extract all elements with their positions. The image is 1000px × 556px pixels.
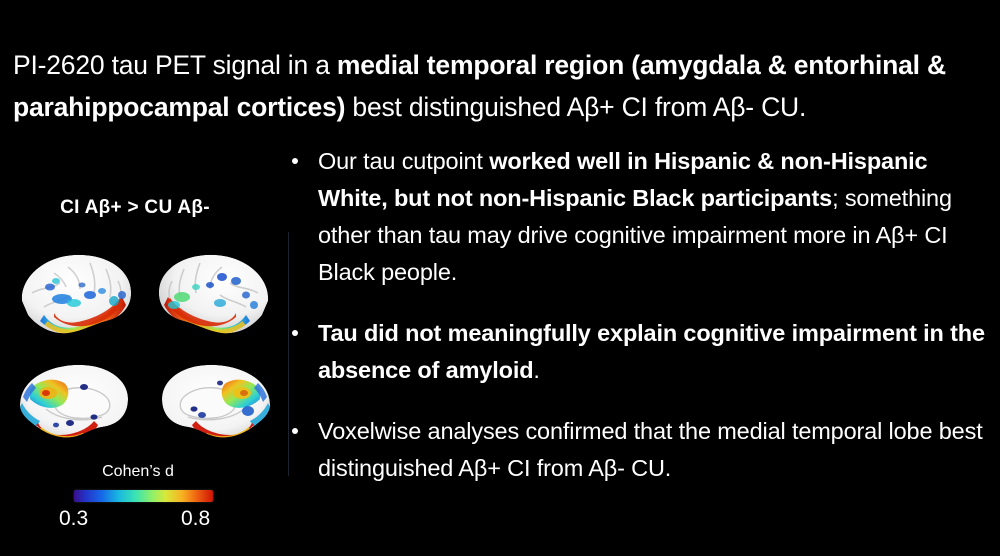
colorbar-max-label: 0.8: [181, 507, 210, 531]
bullet-list: Our tau cutpoint worked well in Hispanic…: [288, 143, 988, 487]
bullet-dot-icon: [292, 158, 298, 164]
figure-panel: CI Aβ+ > CU Aβ-: [0, 185, 280, 545]
bullet-1-plain-1: Our tau cutpoint: [318, 148, 489, 174]
colorbar-gradient: [74, 490, 213, 502]
brain-right-hemisphere-medial: [150, 353, 280, 457]
bullet-3-plain-1: Voxelwise analyses confirmed that the me…: [318, 418, 983, 481]
bullet-2-plain-2: .: [533, 357, 539, 383]
brain-render-grid: [10, 243, 280, 465]
bullet-dot-icon: [292, 428, 298, 434]
colorbar-title: Cohen’s d: [50, 463, 226, 481]
colorbar: Cohen’s d 0.3 0.8: [50, 463, 250, 543]
figure-caption: CI Aβ+ > CU Aβ-: [0, 197, 270, 219]
list-item: Voxelwise analyses confirmed that the me…: [288, 413, 988, 487]
title-segment-plain-1: PI-2620 tau PET signal in a: [13, 50, 337, 80]
colorbar-min-label: 0.3: [59, 507, 88, 531]
list-item: Tau did not meaningfully explain cogniti…: [288, 315, 988, 389]
title-segment-plain-2: best distinguished Aβ+ CI from Aβ- CU.: [345, 92, 806, 122]
list-item: Our tau cutpoint worked well in Hispanic…: [288, 143, 988, 291]
brain-right-hemisphere-lateral: [150, 243, 280, 347]
brain-left-hemisphere-medial: [10, 353, 140, 457]
brain-left-hemisphere-lateral: [10, 243, 140, 347]
slide-title: PI-2620 tau PET signal in a medial tempo…: [13, 44, 985, 128]
slide-canvas: PI-2620 tau PET signal in a medial tempo…: [0, 0, 1000, 556]
bullet-2-bold: Tau did not meaningfully explain cogniti…: [318, 320, 985, 383]
bullet-dot-icon: [292, 330, 298, 336]
